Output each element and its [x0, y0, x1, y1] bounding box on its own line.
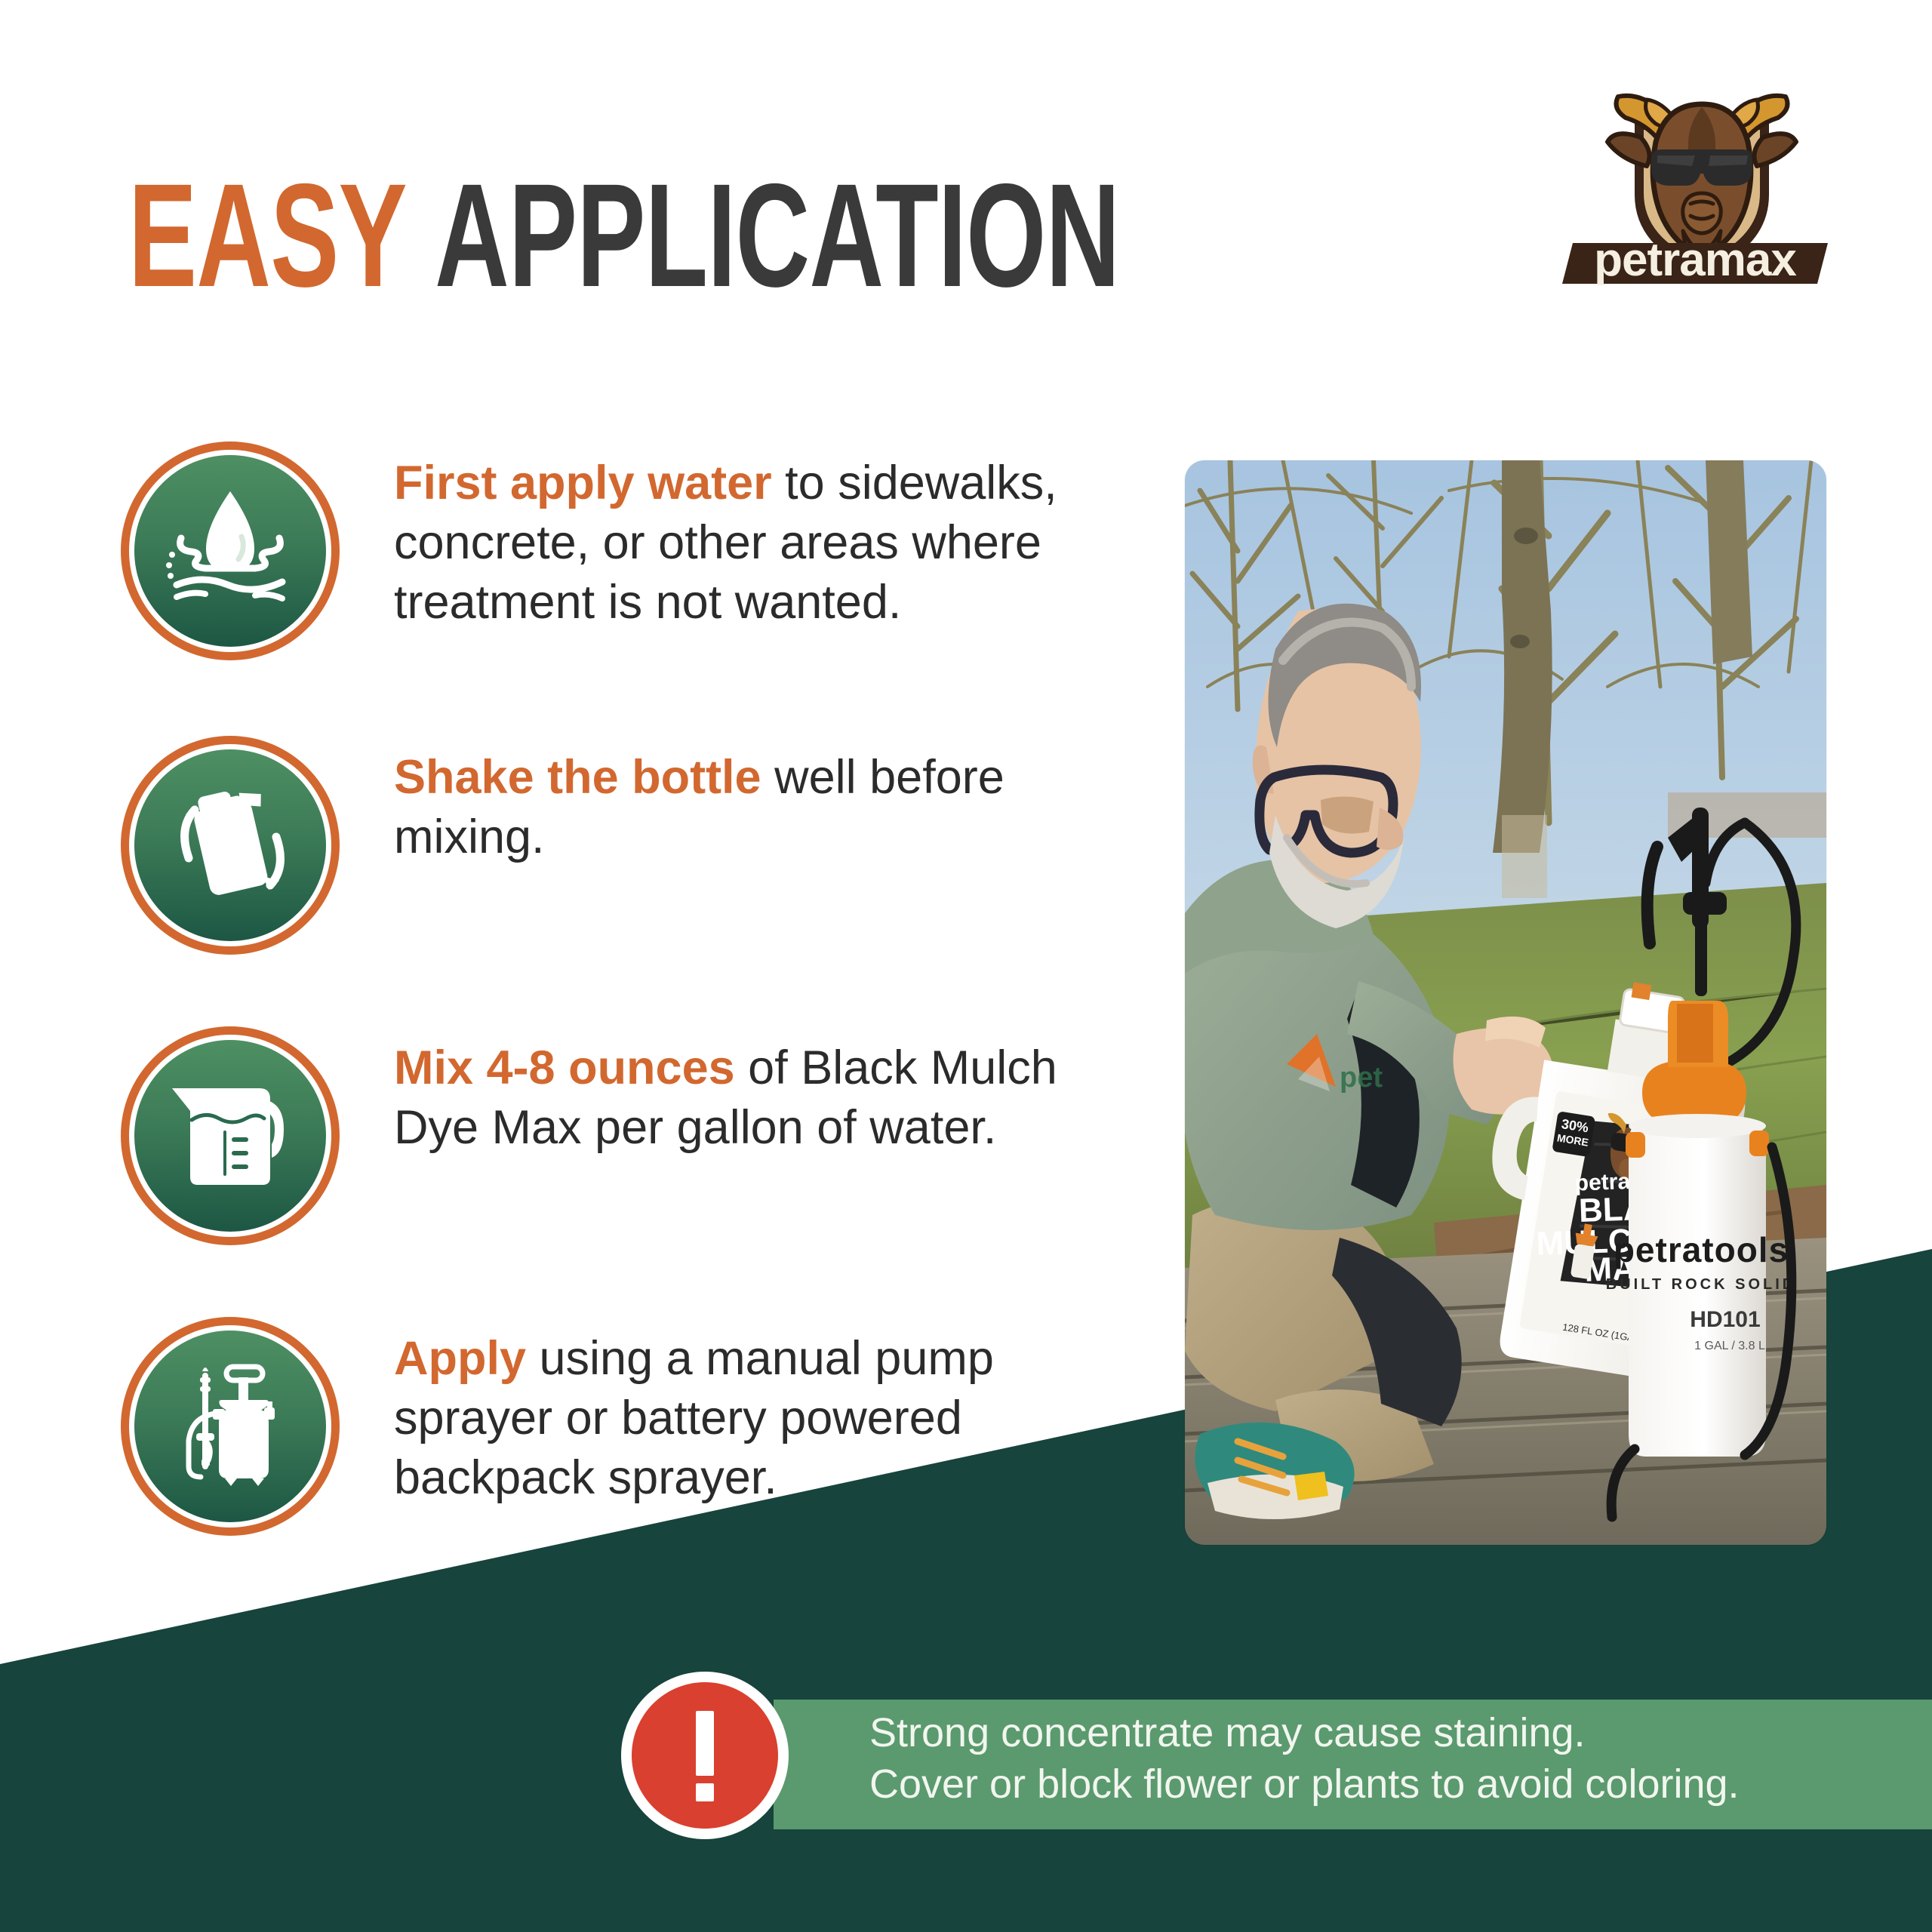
shake-bottle-icon — [158, 774, 302, 917]
step-2-text: Shake the bottle well before mixing. — [394, 736, 1149, 867]
page-title: EASY APPLICATION — [128, 162, 1119, 309]
step-4-lead: Apply — [394, 1332, 526, 1385]
svg-text:BUILT ROCK SOLID: BUILT ROCK SOLID — [1606, 1276, 1797, 1293]
step-item-3: Mix 4-8 ounces of Black Mulch Dye Max pe… — [121, 1026, 1149, 1245]
water-droplet-ripple-icon — [158, 479, 302, 623]
step-4-text: Apply using a manual pump sprayer or bat… — [394, 1317, 1149, 1508]
svg-text:petratools: petratools — [1614, 1230, 1789, 1269]
step-2-badge — [121, 736, 340, 955]
step-3-text: Mix 4-8 ounces of Black Mulch Dye Max pe… — [394, 1026, 1149, 1158]
svg-text:HD101: HD101 — [1690, 1307, 1760, 1332]
warning-line-1: Strong concentrate may cause staining. — [869, 1707, 1896, 1758]
step-item-4: Apply using a manual pump sprayer or bat… — [121, 1317, 1149, 1536]
step-item-2: Shake the bottle well before mixing. — [121, 736, 1149, 955]
page-title-rest: APPLICATION — [435, 153, 1119, 318]
step-4-badge — [121, 1317, 340, 1536]
svg-text:1 GAL / 3.8 L: 1 GAL / 3.8 L — [1694, 1340, 1765, 1352]
petramax-logo[interactable]: petramax — [1562, 53, 1841, 287]
step-2-lead: Shake the bottle — [394, 751, 761, 804]
warning-line-2: Cover or block flower or plants to avoid… — [869, 1758, 1896, 1810]
pump-sprayer-icon — [158, 1355, 302, 1498]
infographic-canvas: EASY APPLICATION — [0, 0, 1932, 1932]
step-item-1: First apply water to sidewalks, concrete… — [121, 441, 1149, 660]
product-demo-photo: pet — [1185, 460, 1826, 1545]
page-title-highlight: EASY — [128, 153, 407, 318]
warning-text: Strong concentrate may cause staining. C… — [869, 1707, 1896, 1810]
step-1-badge — [121, 441, 340, 660]
step-1-lead: First apply water — [394, 457, 772, 509]
svg-text:petramax: petramax — [1594, 234, 1797, 286]
measuring-cup-icon — [158, 1064, 302, 1207]
exclamation-circle-icon — [621, 1672, 789, 1839]
step-3-badge — [121, 1026, 340, 1245]
step-1-text: First apply water to sidewalks, concrete… — [394, 441, 1149, 632]
svg-text:pet: pet — [1340, 1062, 1383, 1094]
step-3-lead: Mix 4-8 ounces — [394, 1041, 735, 1094]
